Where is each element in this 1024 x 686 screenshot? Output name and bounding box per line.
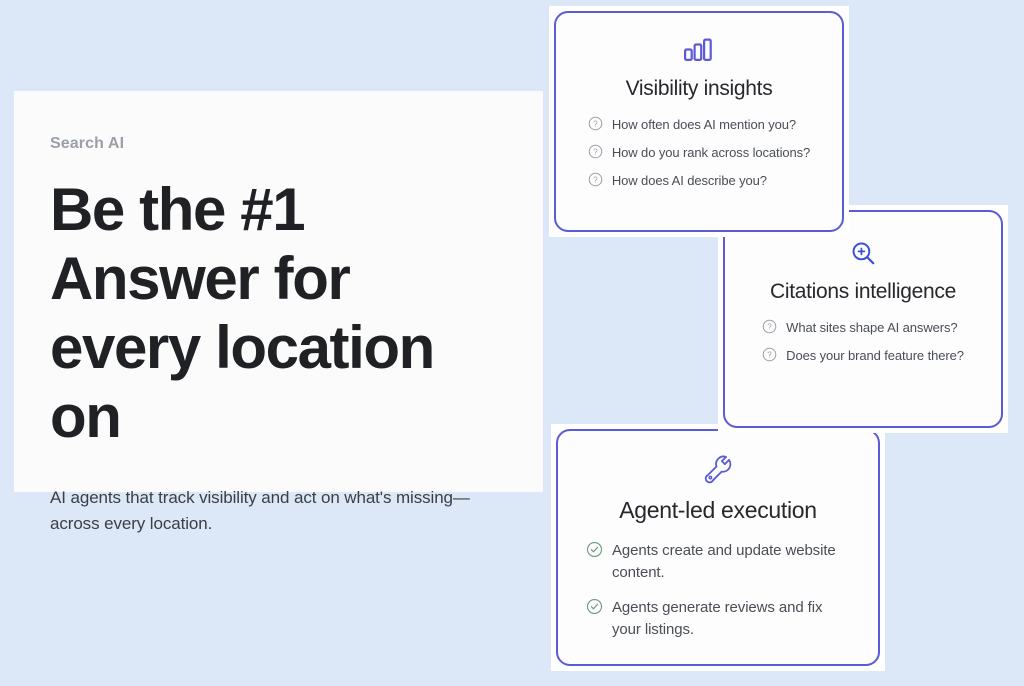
card-question-list: ? How often does AI mention you? ? How d… (588, 115, 810, 199)
svg-text:?: ? (767, 323, 772, 332)
card-visibility-insights[interactable]: Visibility insights ? How often does AI … (549, 6, 849, 237)
check-circle-icon (586, 598, 603, 615)
svg-text:?: ? (767, 351, 772, 360)
hero-eyebrow: Search AI (50, 135, 507, 153)
wrench-icon (703, 455, 733, 485)
question-circle-icon: ? (762, 347, 777, 362)
list-item-label: Agents generate reviews and fix your lis… (612, 597, 850, 641)
svg-text:?: ? (593, 120, 598, 129)
hero-subtitle: AI agents that track visibility and act … (50, 485, 507, 537)
check-circle-icon (586, 541, 603, 558)
question-circle-icon: ? (762, 319, 777, 334)
list-item-label: How often does AI mention you? (612, 115, 796, 134)
list-item: ? Does your brand feature there? (762, 346, 964, 365)
list-item-label: How does AI describe you? (612, 171, 767, 190)
page-title: Be the #1 Answer for every location on (50, 175, 507, 451)
list-item: Agents create and update website content… (586, 540, 850, 584)
list-item: ? How often does AI mention you? (588, 115, 810, 134)
card-check-list: Agents create and update website content… (586, 540, 850, 654)
question-circle-icon: ? (588, 116, 603, 131)
card-question-list: ? What sites shape AI answers? ? Does yo… (762, 318, 964, 374)
svg-text:?: ? (593, 176, 598, 185)
bar-chart-icon (684, 35, 714, 65)
list-item-label: Agents create and update website content… (612, 540, 850, 584)
list-item-label: How do you rank across locations? (612, 143, 810, 162)
card-agent-led-execution[interactable]: Agent-led execution Agents create and up… (551, 424, 885, 671)
card-citations-intelligence[interactable]: Citations intelligence ? What sites shap… (718, 205, 1008, 433)
zoom-in-icon (850, 238, 877, 268)
list-item-label: What sites shape AI answers? (786, 318, 957, 337)
question-circle-icon: ? (588, 172, 603, 187)
list-item: Agents generate reviews and fix your lis… (586, 597, 850, 641)
svg-text:?: ? (593, 148, 598, 157)
card-title: Visibility insights (626, 77, 773, 101)
card-title: Agent-led execution (619, 497, 817, 524)
question-circle-icon: ? (588, 144, 603, 159)
list-item-label: Does your brand feature there? (786, 346, 964, 365)
list-item: ? How do you rank across locations? (588, 143, 810, 162)
list-item: ? How does AI describe you? (588, 171, 810, 190)
card-title: Citations intelligence (770, 280, 956, 304)
hero-panel: Search AI Be the #1 Answer for every loc… (14, 91, 543, 492)
list-item: ? What sites shape AI answers? (762, 318, 964, 337)
